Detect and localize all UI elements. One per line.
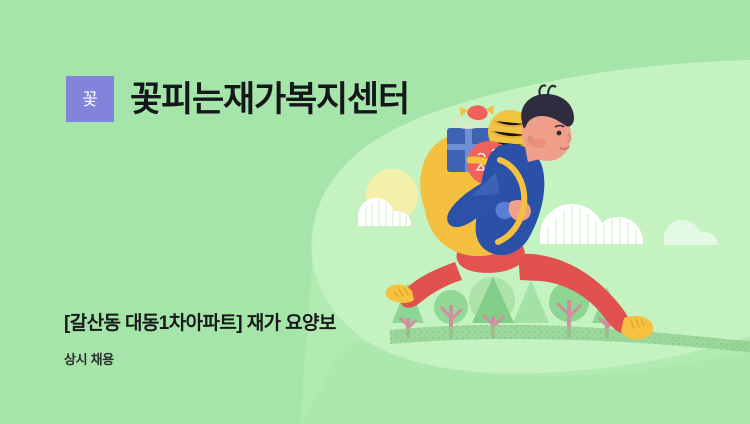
company-logo-text: 꽃 bbox=[82, 91, 98, 108]
posting-title[interactable]: [갈산동 대동1차아파트] 재가 요양보 bbox=[64, 312, 336, 336]
company-name[interactable]: 꽃피는재가복지센터 bbox=[130, 82, 409, 117]
company-logo-badge[interactable]: 꽃 bbox=[66, 76, 114, 122]
job-posting-card[interactable]: 꽃 꽃피는재가복지센터 [갈산동 대동1차아파트] 재가 요양보 상시 채용 bbox=[0, 0, 750, 424]
brand-header[interactable]: 꽃 꽃피는재가복지센터 bbox=[66, 76, 409, 122]
posting-info[interactable]: [갈산동 대동1차아파트] 재가 요양보 상시 채용 bbox=[64, 312, 336, 366]
posting-status-badge: 상시 채용 bbox=[64, 353, 336, 366]
